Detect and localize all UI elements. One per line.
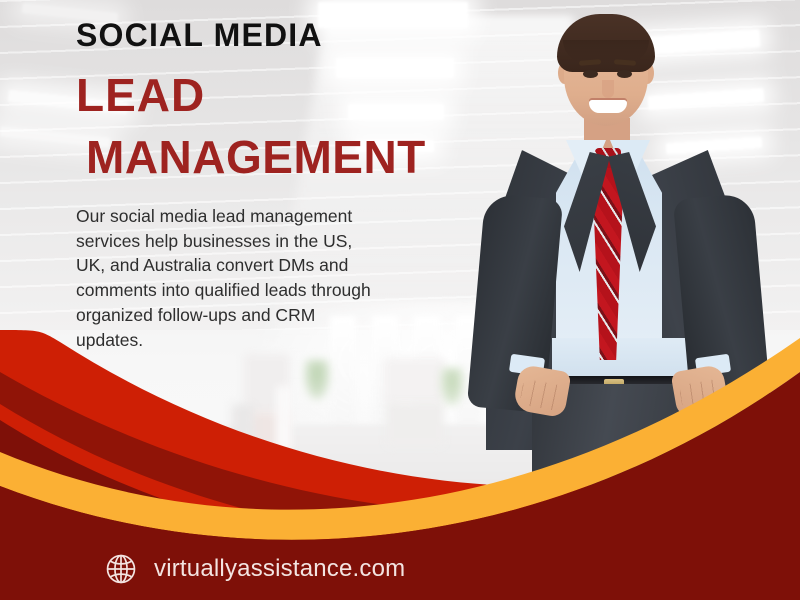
potted-plant [304,360,330,400]
globe-icon [104,552,138,586]
eye-left [583,70,598,78]
headline-line-2: MANAGEMENT [76,119,476,181]
nose [602,80,614,98]
eyebrow-heading: SOCIAL MEDIA [76,0,476,53]
body-paragraph: Our social media lead management service… [76,182,376,353]
footer-bar: virtuallyassistance.com [0,538,800,600]
office-partition [276,386,292,450]
promo-poster: SOCIAL MEDIA LEAD MANAGEMENT Our social … [0,0,800,600]
eye-right [617,70,632,78]
office-chair [232,404,254,444]
headline-line-1: LEAD [76,53,476,119]
hair [557,14,655,72]
website-url[interactable]: virtuallyassistance.com [154,555,405,583]
headline-block: SOCIAL MEDIA LEAD MANAGEMENT Our social … [76,0,476,353]
smiling-mouth [589,100,627,113]
businessman-photo [424,0,800,560]
